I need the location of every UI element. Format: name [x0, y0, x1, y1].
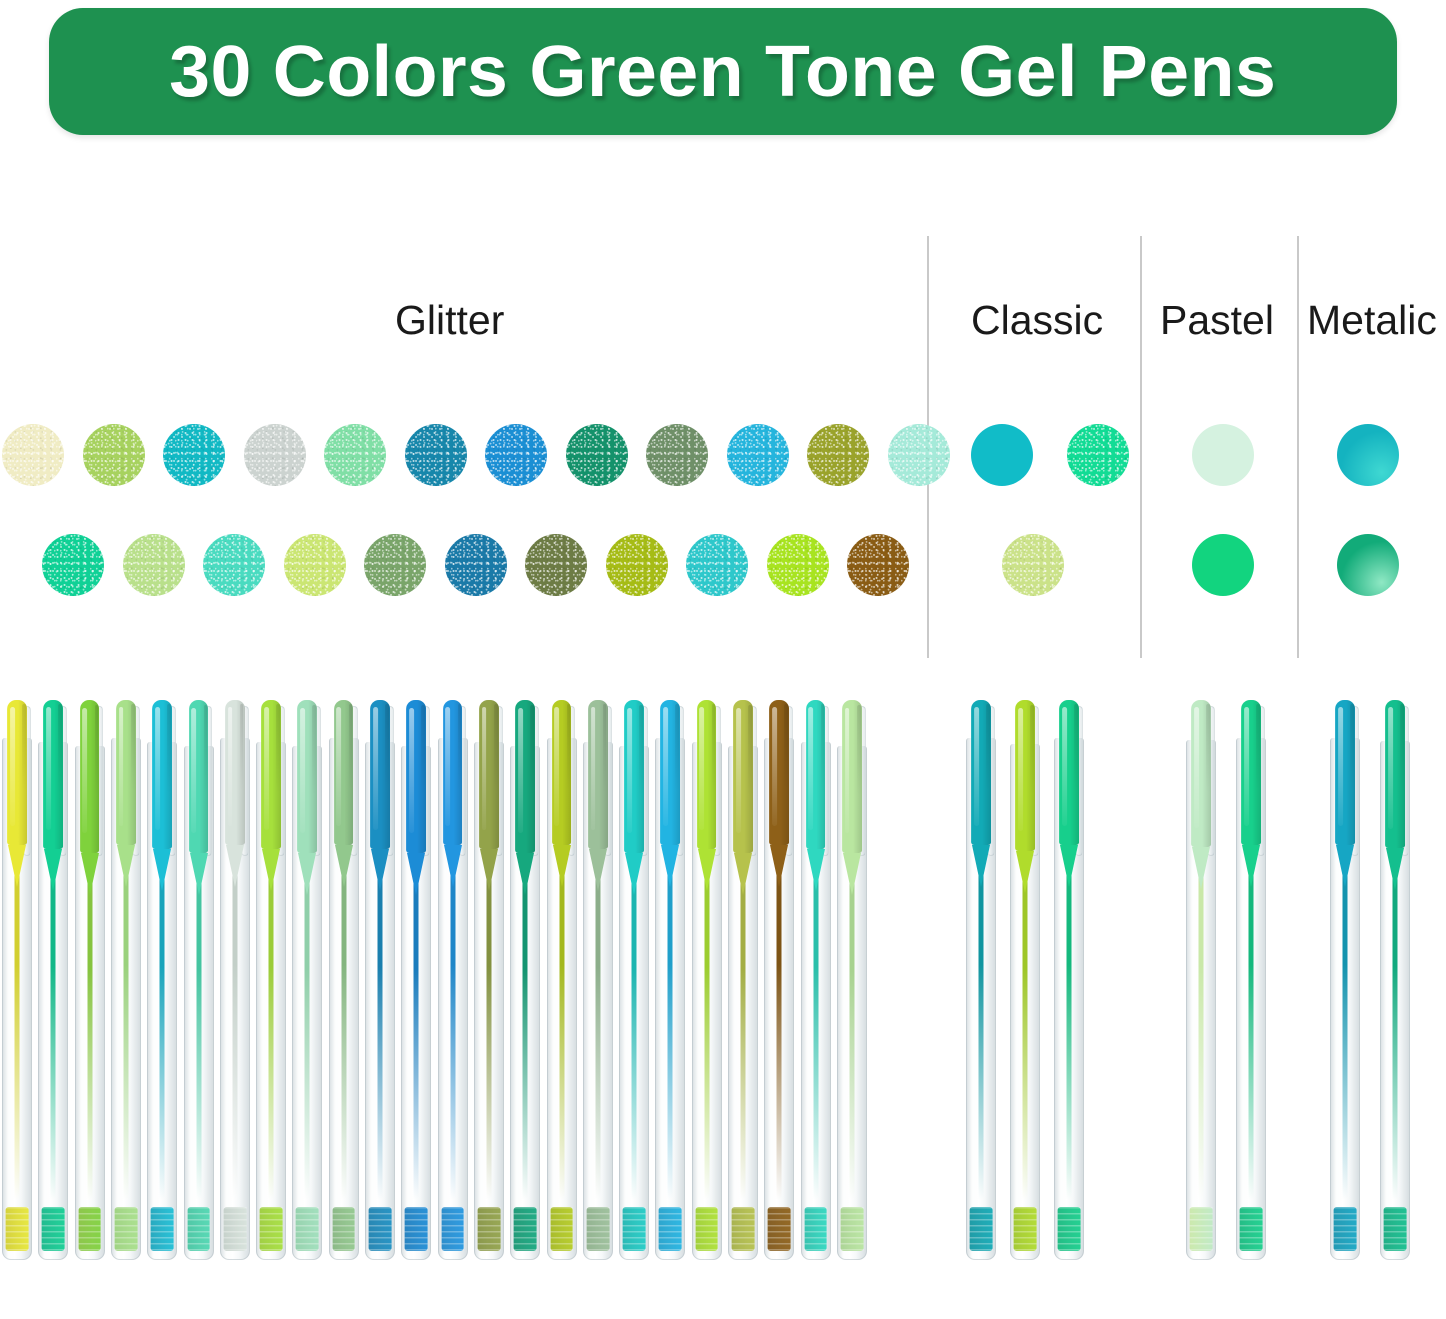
swatch-classic-spring-green [1067, 424, 1129, 486]
pen-cap-taper [972, 845, 990, 887]
header-banner: 30 Colors Green Tone Gel Pens [49, 8, 1397, 135]
swatch-classic-teal [971, 424, 1033, 486]
pen-glitter-7 [220, 700, 250, 1260]
pen-pastel-2 [1236, 700, 1266, 1260]
pen-cap [261, 700, 281, 849]
pen-cap [225, 700, 245, 845]
pen-cap-taper [661, 845, 679, 887]
pen-cap-taper [734, 853, 752, 895]
pen-end-plug [441, 1207, 464, 1251]
pen-cap-taper [335, 845, 353, 887]
pen-glitter-11 [365, 700, 395, 1260]
pen-cap [769, 700, 789, 845]
pen-end-plug [1384, 1207, 1407, 1251]
pen-cap-taper [698, 849, 716, 891]
pen-cap [624, 700, 644, 853]
pen-cap [189, 700, 209, 853]
swatch-olive-yellow [807, 424, 869, 486]
pen-glitter-18 [619, 700, 649, 1260]
pen-cap [43, 700, 63, 849]
swatch-yellow-lime [284, 534, 346, 596]
pen-end-plug [405, 1207, 428, 1251]
swatch-chartreuse [606, 534, 668, 596]
swatch-bright-lime [767, 534, 829, 596]
pen-photo-array [0, 700, 1446, 1260]
pen-glitter-21 [728, 700, 758, 1260]
pen-end-plug [223, 1207, 246, 1251]
pen-cap-taper [153, 849, 171, 891]
pen-cap-taper [298, 853, 316, 895]
pen-cap-taper [1060, 845, 1078, 887]
swatch-cyan-teal [163, 424, 225, 486]
pen-end-plug [623, 1207, 646, 1251]
pen-end-plug [970, 1207, 993, 1251]
pen-end-plug [840, 1207, 863, 1251]
pen-cap-taper [807, 849, 825, 891]
pen-cap-taper [516, 853, 534, 895]
pen-glitter-12 [401, 700, 431, 1260]
pen-end-plug [768, 1207, 791, 1251]
swatch-mint-green [324, 424, 386, 486]
pen-cap-taper [1192, 847, 1210, 889]
pen-end-plug [804, 1207, 827, 1251]
pen-glitter-20 [692, 700, 722, 1260]
swatch-sage-green [646, 424, 708, 486]
page-title: 30 Colors Green Tone Gel Pens [169, 36, 1276, 108]
swatch-teal-blue [445, 534, 507, 596]
pen-cap [116, 700, 136, 845]
pen-glitter-24 [837, 700, 867, 1260]
pen-end-plug [187, 1207, 210, 1251]
pen-glitter-8 [256, 700, 286, 1260]
pen-cap-taper [262, 849, 280, 891]
pen-cap [80, 700, 100, 853]
pen-cap [1015, 700, 1035, 851]
pen-end-plug [42, 1207, 65, 1251]
pen-glitter-10 [329, 700, 359, 1260]
swatch-emerald [566, 424, 628, 486]
pen-cap-taper [1016, 851, 1034, 893]
swatch-pastel-pale-mint [1192, 424, 1254, 486]
pen-cap [1241, 700, 1261, 845]
pen-cap-taper [770, 845, 788, 887]
pen-end-plug [695, 1207, 718, 1251]
pen-cap-taper [553, 845, 571, 887]
pen-end-plug [6, 1207, 29, 1251]
pen-cap [152, 700, 172, 849]
pen-cap [697, 700, 717, 849]
pen-cap [515, 700, 535, 853]
pen-end-plug [1334, 1207, 1357, 1251]
swatch-cyan [727, 424, 789, 486]
pen-end-plug [78, 1207, 101, 1251]
swatch-turquoise [203, 534, 265, 596]
pen-end-plug [1190, 1207, 1213, 1251]
swatch-classic-light-lime [1002, 534, 1064, 596]
divider-classic-pastel [1140, 236, 1142, 658]
pen-cap-taper [625, 853, 643, 895]
pen-cap-taper [44, 849, 62, 891]
pen-glitter-15 [510, 700, 540, 1260]
pen-end-plug [659, 1207, 682, 1251]
pen-metalic-1 [1330, 700, 1360, 1260]
pen-cap [7, 700, 27, 845]
swatch-yellow-green [83, 424, 145, 486]
pen-pastel-1 [1186, 700, 1216, 1260]
pen-cap [552, 700, 572, 845]
swatch-aqua-turquoise [686, 534, 748, 596]
swatch-spring-green [42, 534, 104, 596]
pen-glitter-3 [75, 700, 105, 1260]
pen-metalic-2 [1380, 700, 1410, 1260]
pen-end-plug [114, 1207, 137, 1251]
pen-end-plug [732, 1207, 755, 1251]
pen-glitter-1 [2, 700, 32, 1260]
swatch-silver-grey [244, 424, 306, 486]
pen-cap-taper [589, 849, 607, 891]
pen-cap [1059, 700, 1079, 845]
pen-glitter-4 [111, 700, 141, 1260]
pen-cap [443, 700, 463, 845]
swatch-light-lime [123, 534, 185, 596]
category-label-classic: Classic [971, 300, 1103, 341]
swatch-metalic-green [1337, 534, 1399, 596]
pen-cap [588, 700, 608, 849]
pen-end-plug [1058, 1207, 1081, 1251]
pen-cap [406, 700, 426, 853]
swatch-metalic-teal [1337, 424, 1399, 486]
pen-cap [660, 700, 680, 845]
pen-end-plug [332, 1207, 355, 1251]
pen-end-plug [369, 1207, 392, 1251]
pen-cap [370, 700, 390, 849]
swatch-pastel-green [1192, 534, 1254, 596]
pen-end-plug [260, 1207, 283, 1251]
pen-glitter-6 [184, 700, 214, 1260]
category-label-glitter: Glitter [395, 300, 504, 341]
pen-cap [971, 700, 991, 845]
pen-cap-taper [8, 845, 26, 887]
pen-cap-taper [444, 845, 462, 887]
pen-end-plug [477, 1207, 500, 1251]
swatch-bronze-brown [847, 534, 909, 596]
pen-cap [479, 700, 499, 849]
pen-cap-taper [190, 853, 208, 895]
pen-cap-taper [843, 853, 861, 895]
category-label-metalic: Metalic [1307, 300, 1437, 341]
pen-cap-taper [371, 849, 389, 891]
pen-glitter-16 [547, 700, 577, 1260]
pen-glitter-5 [147, 700, 177, 1260]
pen-glitter-13 [438, 700, 468, 1260]
pen-end-plug [1014, 1207, 1037, 1251]
pen-glitter-22 [764, 700, 794, 1260]
pen-cap [1335, 700, 1355, 845]
pen-cap-taper [1386, 848, 1404, 890]
pen-cap-taper [117, 845, 135, 887]
pen-end-plug [514, 1207, 537, 1251]
pen-cap-taper [226, 845, 244, 887]
pen-classic-2 [1010, 700, 1040, 1260]
pen-end-plug [296, 1207, 319, 1251]
pen-glitter-2 [38, 700, 68, 1260]
pen-cap [297, 700, 317, 853]
divider-pastel-metalic [1297, 236, 1299, 658]
pen-glitter-19 [655, 700, 685, 1260]
pen-cap [806, 700, 826, 849]
swatch-pale-aqua [888, 424, 950, 486]
category-label-pastel: Pastel [1160, 300, 1274, 341]
swatch-dark-olive [525, 534, 587, 596]
pen-end-plug [1240, 1207, 1263, 1251]
pen-cap [1385, 700, 1405, 848]
pen-glitter-14 [474, 700, 504, 1260]
pen-glitter-23 [801, 700, 831, 1260]
pen-cap [842, 700, 862, 853]
pen-end-plug [151, 1207, 174, 1251]
swatch-deep-teal [405, 424, 467, 486]
pen-cap-taper [480, 849, 498, 891]
pen-cap-taper [81, 853, 99, 895]
pen-cap [1191, 700, 1211, 847]
pen-glitter-9 [292, 700, 322, 1260]
pen-cap [733, 700, 753, 853]
swatch-pale-cream [2, 424, 64, 486]
pen-glitter-17 [583, 700, 613, 1260]
swatch-medium-green [364, 534, 426, 596]
pen-classic-1 [966, 700, 996, 1260]
pen-classic-3 [1054, 700, 1084, 1260]
pen-cap-taper [407, 853, 425, 895]
pen-end-plug [550, 1207, 573, 1251]
pen-end-plug [586, 1207, 609, 1251]
pen-cap [334, 700, 354, 845]
pen-cap-taper [1336, 845, 1354, 887]
pen-cap-taper [1242, 845, 1260, 887]
swatch-bright-blue [485, 424, 547, 486]
